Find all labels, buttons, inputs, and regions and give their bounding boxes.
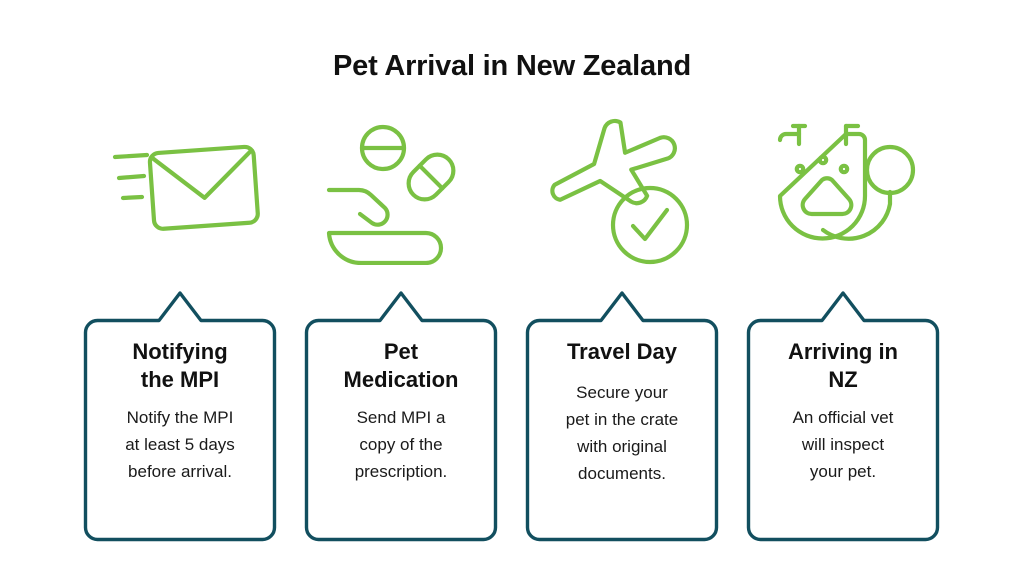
card-title: Pet Medication: [344, 338, 459, 394]
card-1: Notifying the MPI Notify the MPI at leas…: [81, 288, 279, 544]
card-4: Arriving in NZ An official vet will insp…: [744, 288, 942, 544]
card-body: Secure your pet in the crate with origin…: [566, 379, 678, 487]
airplane-check-icon: [523, 110, 721, 275]
step-card-1: Notifying the MPI Notify the MPI at leas…: [81, 0, 279, 576]
step-card-4: Arriving in NZ An official vet will insp…: [744, 0, 942, 576]
card-3: Travel Day Secure your pet in the crate …: [523, 288, 721, 544]
stethoscope-pet-face-icon: [744, 110, 942, 275]
card-title: Notifying the MPI: [132, 338, 227, 394]
card-body: Send MPI a copy of the prescription.: [355, 404, 448, 485]
steps-row: Notifying the MPI Notify the MPI at leas…: [0, 0, 1024, 576]
step-card-2: Pet Medication Send MPI a copy of the pr…: [302, 0, 500, 576]
envelope-mail-icon: [81, 110, 279, 275]
card-title: Arriving in NZ: [788, 338, 898, 394]
card-2: Pet Medication Send MPI a copy of the pr…: [302, 288, 500, 544]
hand-with-pills-icon: [302, 110, 500, 275]
card-body: An official vet will inspect your pet.: [793, 404, 894, 485]
step-card-3: Travel Day Secure your pet in the crate …: [523, 0, 721, 576]
card-body: Notify the MPI at least 5 days before ar…: [125, 404, 235, 485]
card-title: Travel Day: [567, 338, 677, 366]
